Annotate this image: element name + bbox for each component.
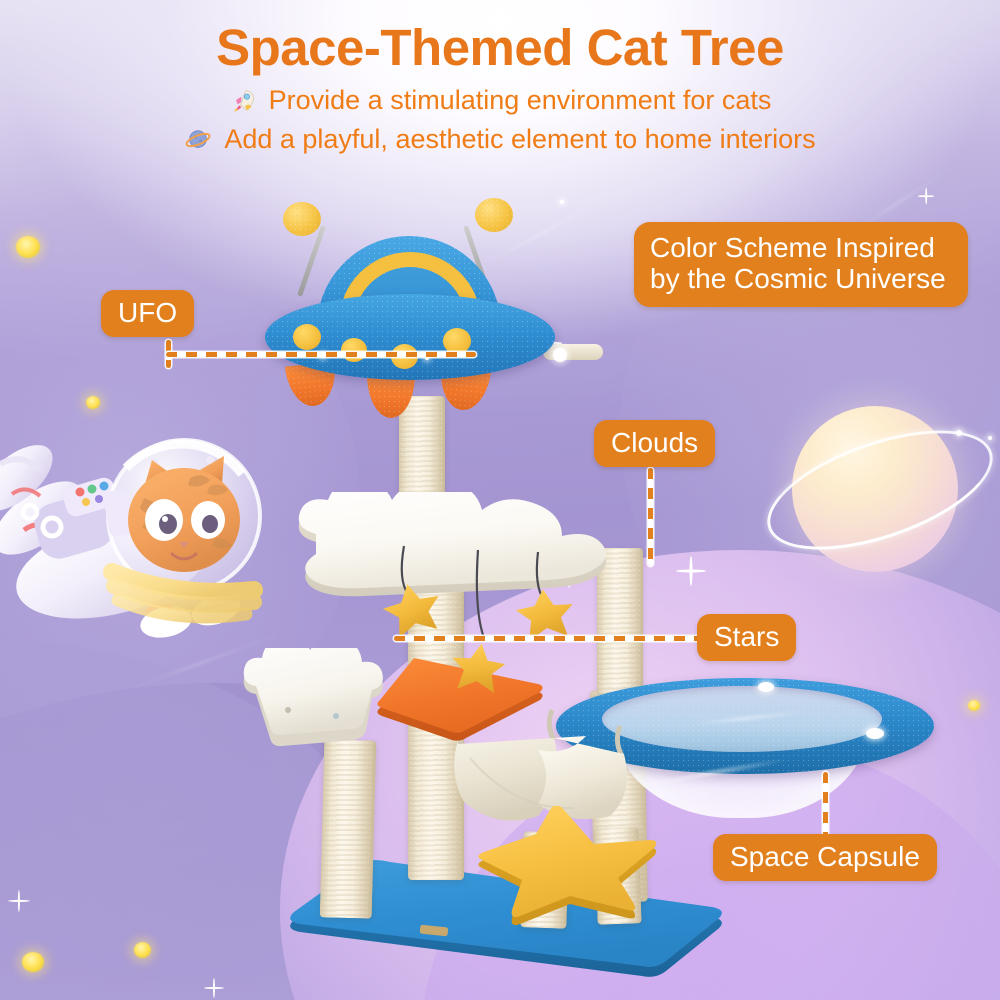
header: Space-Themed Cat Tree Provide a stimulat… <box>0 0 1000 155</box>
header-bullet-1: Provide a stimulating environment for ca… <box>0 85 1000 116</box>
clouds-leader-vertical <box>648 468 653 566</box>
callout-stars-label: Stars <box>714 621 779 652</box>
ufo-side-rod <box>543 344 603 360</box>
capsule-leader-vertical <box>823 772 828 838</box>
ufo-light-dot <box>341 338 367 362</box>
ufo-light-dot <box>443 328 471 354</box>
stars-leader-horizontal <box>394 636 700 641</box>
star-platform <box>440 806 690 926</box>
page-title: Space-Themed Cat Tree <box>0 0 1000 73</box>
ufo-leader-horizontal <box>166 352 476 357</box>
callout-ufo-label: UFO <box>118 297 177 328</box>
bowl-glint <box>866 728 884 739</box>
ufo-light-dot <box>293 324 321 350</box>
color-scheme-line-1: Color Scheme Inspired <box>650 232 952 263</box>
ufo-glint <box>553 348 567 362</box>
color-scheme-line-2: by the Cosmic Universe <box>650 263 952 294</box>
ufo-antenna-ball <box>475 198 513 232</box>
header-bullet-1-text: Provide a stimulating environment for ca… <box>269 85 772 116</box>
header-bullet-2: Add a playful, aesthetic element to home… <box>0 124 1000 155</box>
callout-ufo[interactable]: UFO <box>101 290 194 337</box>
bowl-glint <box>758 682 774 692</box>
rocket-icon <box>229 87 257 115</box>
callout-stars[interactable]: Stars <box>697 614 796 661</box>
ufo-topper <box>243 196 573 411</box>
header-bullet-2-text: Add a playful, aesthetic element to home… <box>224 124 815 155</box>
callout-space-capsule[interactable]: Space Capsule <box>713 834 937 881</box>
planet-icon <box>184 126 212 154</box>
ufo-antenna-ball <box>283 202 321 236</box>
color-scheme-note[interactable]: Color Scheme Inspired by the Cosmic Univ… <box>634 222 968 307</box>
callout-clouds[interactable]: Clouds <box>594 420 715 467</box>
callout-clouds-label: Clouds <box>611 427 698 458</box>
callout-space-capsule-label: Space Capsule <box>730 841 920 872</box>
